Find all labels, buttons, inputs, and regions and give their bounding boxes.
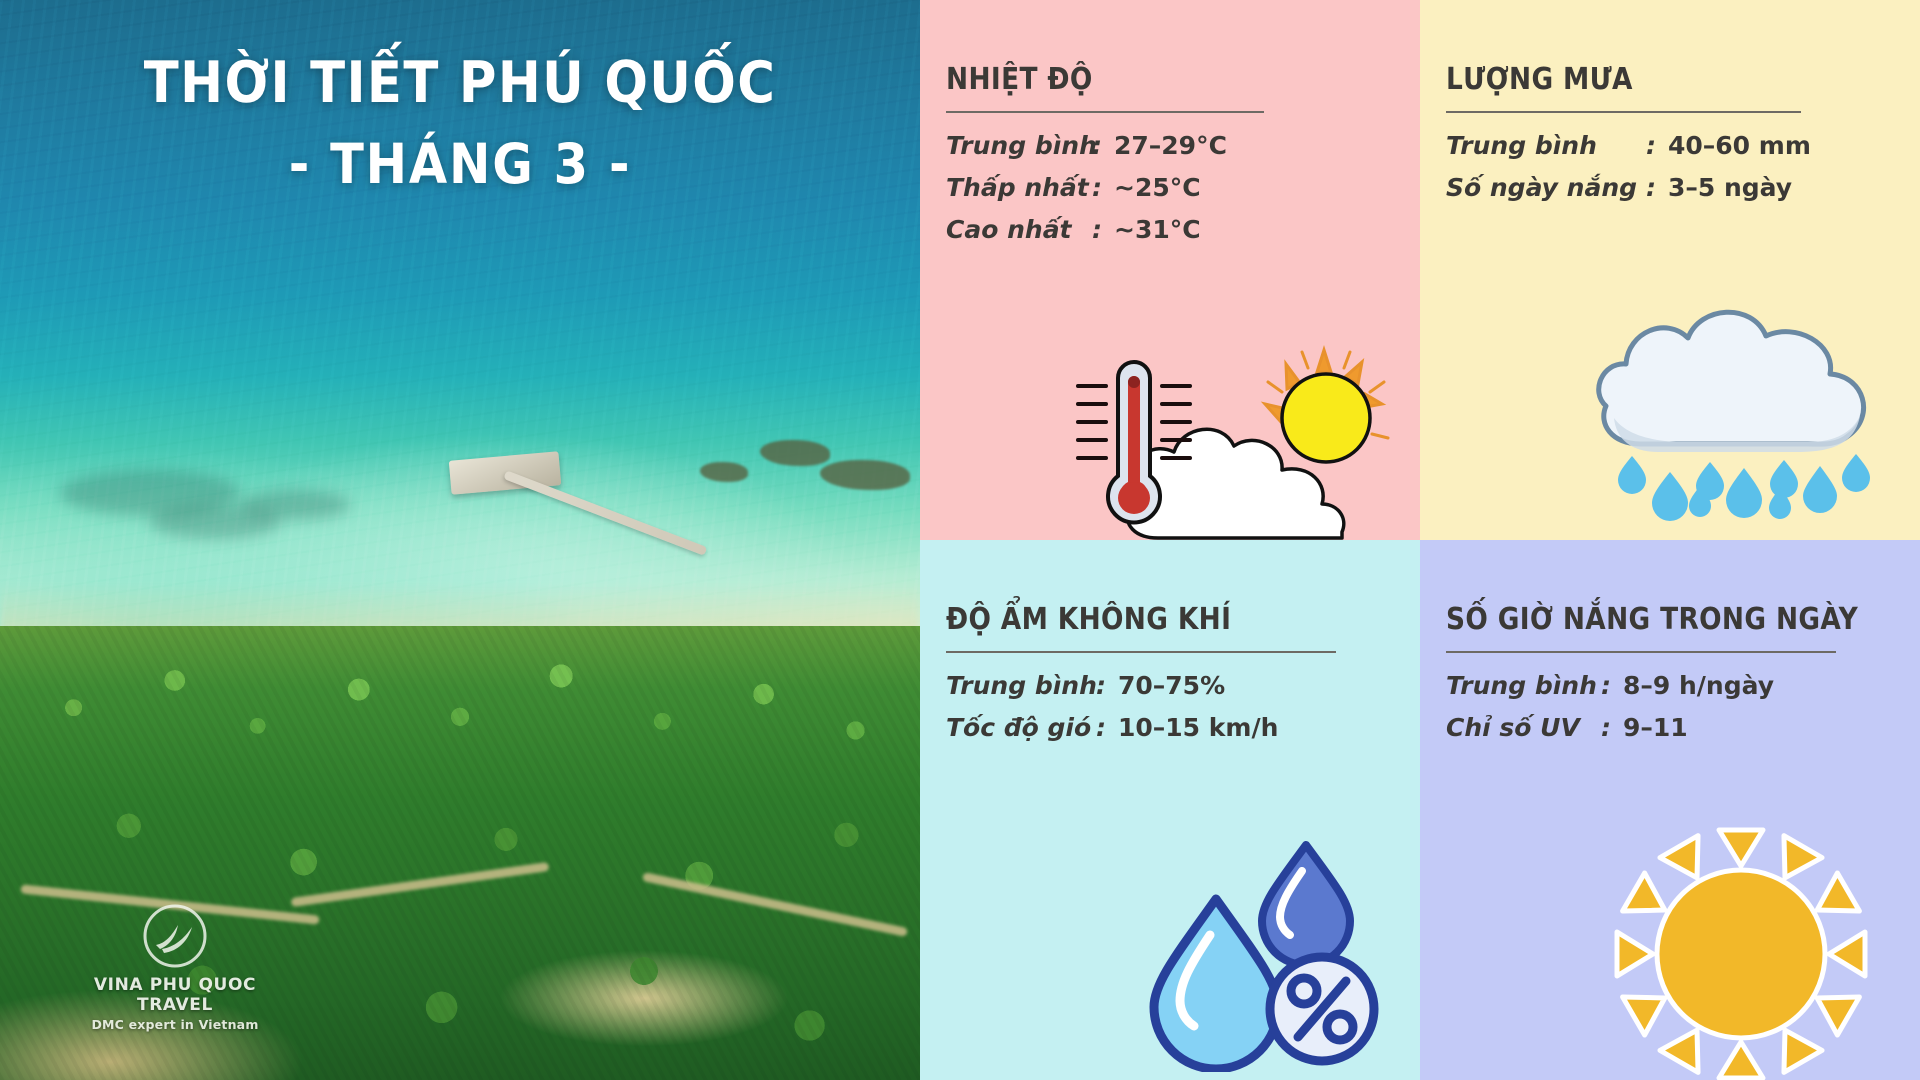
panel-temperature-heading: NHIỆT ĐỘ (946, 62, 1363, 97)
stat-row: Chỉ số UV : 9–11 (1446, 713, 1920, 742)
stat-label: Trung bình (946, 671, 1096, 700)
stat-value: 10–15 km/h (1118, 713, 1278, 742)
divider (946, 111, 1264, 113)
stat-value: 40–60 mm (1668, 131, 1811, 160)
stat-label: Chỉ số UV (1446, 713, 1601, 742)
stat-value: 9–11 (1623, 713, 1688, 742)
stat-value: ~25°C (1114, 173, 1201, 202)
water-droplets-percent-icon (1146, 837, 1396, 1072)
panel-sunshine-heading: SỐ GIỜ NẮNG TRONG NGÀY (1446, 602, 1863, 637)
sun-icon (1596, 824, 1886, 1080)
stat-row: Trung bình : 27–29°C (946, 131, 1420, 160)
stat-separator: : (1096, 671, 1118, 700)
stat-separator: : (1646, 131, 1668, 160)
stat-row: Số ngày nắng : 3–5 ngày (1446, 173, 1920, 202)
stat-value: ~31°C (1114, 215, 1201, 244)
page-title: THỜI TIẾT PHÚ QUỐC (46, 52, 874, 116)
stat-label: Trung bình (1446, 131, 1646, 160)
stat-separator: : (1092, 215, 1114, 244)
panel-temperature: NHIỆT ĐỘ Trung bình : 27–29°C Thấp nhất … (920, 0, 1420, 540)
panel-humidity-rows: Trung bình : 70–75% Tốc độ gió : 10–15 k… (946, 671, 1420, 742)
panel-sunshine: SỐ GIỜ NẮNG TRONG NGÀY Trung bình : 8–9 … (1420, 540, 1920, 1080)
stat-row: Trung bình : 70–75% (946, 671, 1420, 700)
stat-value: 27–29°C (1114, 131, 1227, 160)
logo-tagline: DMC expert in Vietnam (60, 1017, 290, 1032)
stat-row: Cao nhất : ~31°C (946, 215, 1420, 244)
stats-grid: NHIỆT ĐỘ Trung bình : 27–29°C Thấp nhất … (920, 0, 1920, 1080)
stat-label: Trung bình (1446, 671, 1601, 700)
stat-value: 70–75% (1118, 671, 1225, 700)
stat-separator: : (1092, 131, 1114, 160)
stat-row: Trung bình : 40–60 mm (1446, 131, 1920, 160)
brand-logo[interactable]: VINA PHU QUOC TRAVEL DMC expert in Vietn… (60, 903, 290, 1032)
stat-separator: : (1646, 173, 1668, 202)
stat-separator: : (1092, 173, 1114, 202)
thermometer-cloud-sun-icon (1062, 342, 1414, 540)
stat-label: Tốc độ gió (946, 713, 1096, 742)
panel-rainfall-rows: Trung bình : 40–60 mm Số ngày nắng : 3–5… (1446, 131, 1920, 202)
panel-sunshine-rows: Trung bình : 8–9 h/ngày Chỉ số UV : 9–11 (1446, 671, 1920, 742)
hero-photo: THỜI TIẾT PHÚ QUỐC - THÁNG 3 - VINA PHU … (0, 0, 920, 1080)
stat-value: 8–9 h/ngày (1623, 671, 1774, 700)
divider (946, 651, 1336, 653)
panel-rainfall-heading: LƯỢNG MƯA (1446, 62, 1863, 97)
stat-separator: : (1096, 713, 1118, 742)
hero-title-block: THỜI TIẾT PHÚ QUỐC - THÁNG 3 - (0, 52, 920, 196)
stat-label: Số ngày nắng (1446, 173, 1646, 202)
whale-tail-circle-icon (142, 903, 208, 969)
stat-label: Cao nhất (946, 215, 1092, 244)
rain-cloud-icon (1584, 296, 1884, 526)
page-subtitle: - THÁNG 3 - (46, 132, 874, 196)
panel-rainfall: LƯỢNG MƯA Trung bình : 40–60 mm Số ngày … (1420, 0, 1920, 540)
stat-separator: : (1601, 671, 1623, 700)
panel-temperature-rows: Trung bình : 27–29°C Thấp nhất : ~25°C C… (946, 131, 1420, 244)
stat-row: Thấp nhất : ~25°C (946, 173, 1420, 202)
stat-label: Thấp nhất (946, 173, 1092, 202)
panel-humidity-heading: ĐỘ ẨM KHÔNG KHÍ (946, 602, 1363, 637)
stat-separator: : (1601, 713, 1623, 742)
stat-row: Tốc độ gió : 10–15 km/h (946, 713, 1420, 742)
divider (1446, 651, 1836, 653)
stat-label: Trung bình (946, 131, 1092, 160)
logo-name: VINA PHU QUOC TRAVEL (60, 975, 290, 1015)
panel-humidity: ĐỘ ẨM KHÔNG KHÍ Trung bình : 70–75% Tốc … (920, 540, 1420, 1080)
stat-row: Trung bình : 8–9 h/ngày (1446, 671, 1920, 700)
infographic-page: THỜI TIẾT PHÚ QUỐC - THÁNG 3 - VINA PHU … (0, 0, 1920, 1080)
reef-patch (240, 490, 350, 520)
divider (1446, 111, 1801, 113)
stat-value: 3–5 ngày (1668, 173, 1792, 202)
